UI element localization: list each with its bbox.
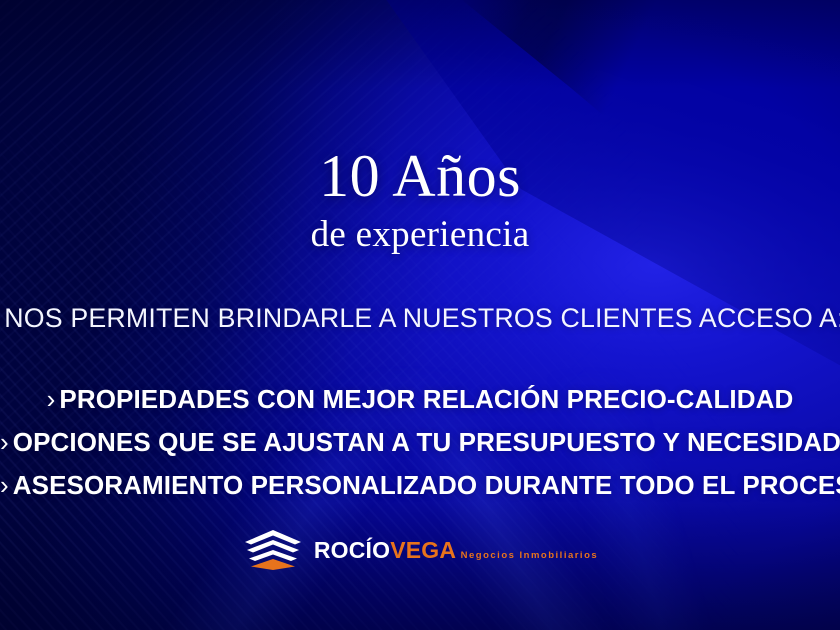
headline: 10 Años — [0, 146, 840, 206]
brand-name-secondary: VEGA — [390, 537, 456, 563]
brand-name-primary: ROCÍO — [314, 537, 390, 563]
promo-slide: 10 Años de experiencia NOS PERMITEN BRIN… — [0, 0, 840, 630]
lead-text: NOS PERMITEN BRINDARLE A NUESTROS CLIENT… — [4, 303, 836, 334]
subheadline: de experiencia — [0, 216, 840, 253]
bullet-item: ›PROPIEDADES CON MEJOR RELACIÓN PRECIO-C… — [0, 378, 840, 421]
bullet-label: PROPIEDADES CON MEJOR RELACIÓN PRECIO-CA… — [59, 384, 793, 414]
bullet-list: ›PROPIEDADES CON MEJOR RELACIÓN PRECIO-C… — [0, 378, 840, 507]
brand-logo: ROCÍOVEGA Negocios Inmobiliarios — [0, 527, 840, 573]
brand-wordmark: ROCÍOVEGA — [314, 537, 456, 563]
brand-tagline: Negocios Inmobiliarios — [461, 550, 599, 561]
brand-logo-text: ROCÍOVEGA Negocios Inmobiliarios — [314, 539, 598, 562]
bullet-item: ›ASESORAMIENTO PERSONALIZADO DURANTE TOD… — [0, 464, 840, 507]
bullet-item: ›OPCIONES QUE SE AJUSTAN A TU PRESUPUEST… — [0, 421, 840, 464]
chevron-icon: › — [0, 427, 13, 457]
chevron-icon: › — [47, 384, 60, 414]
chevron-icon: › — [0, 470, 13, 500]
bullet-label: OPCIONES QUE SE AJUSTAN A TU PRESUPUESTO… — [13, 427, 840, 457]
stacked-chevron-roof-icon — [242, 527, 304, 573]
bullet-label: ASESORAMIENTO PERSONALIZADO DURANTE TODO… — [13, 470, 840, 500]
slide-content: 10 Años de experiencia NOS PERMITEN BRIN… — [0, 0, 840, 630]
headline-block: 10 Años de experiencia — [0, 146, 840, 253]
